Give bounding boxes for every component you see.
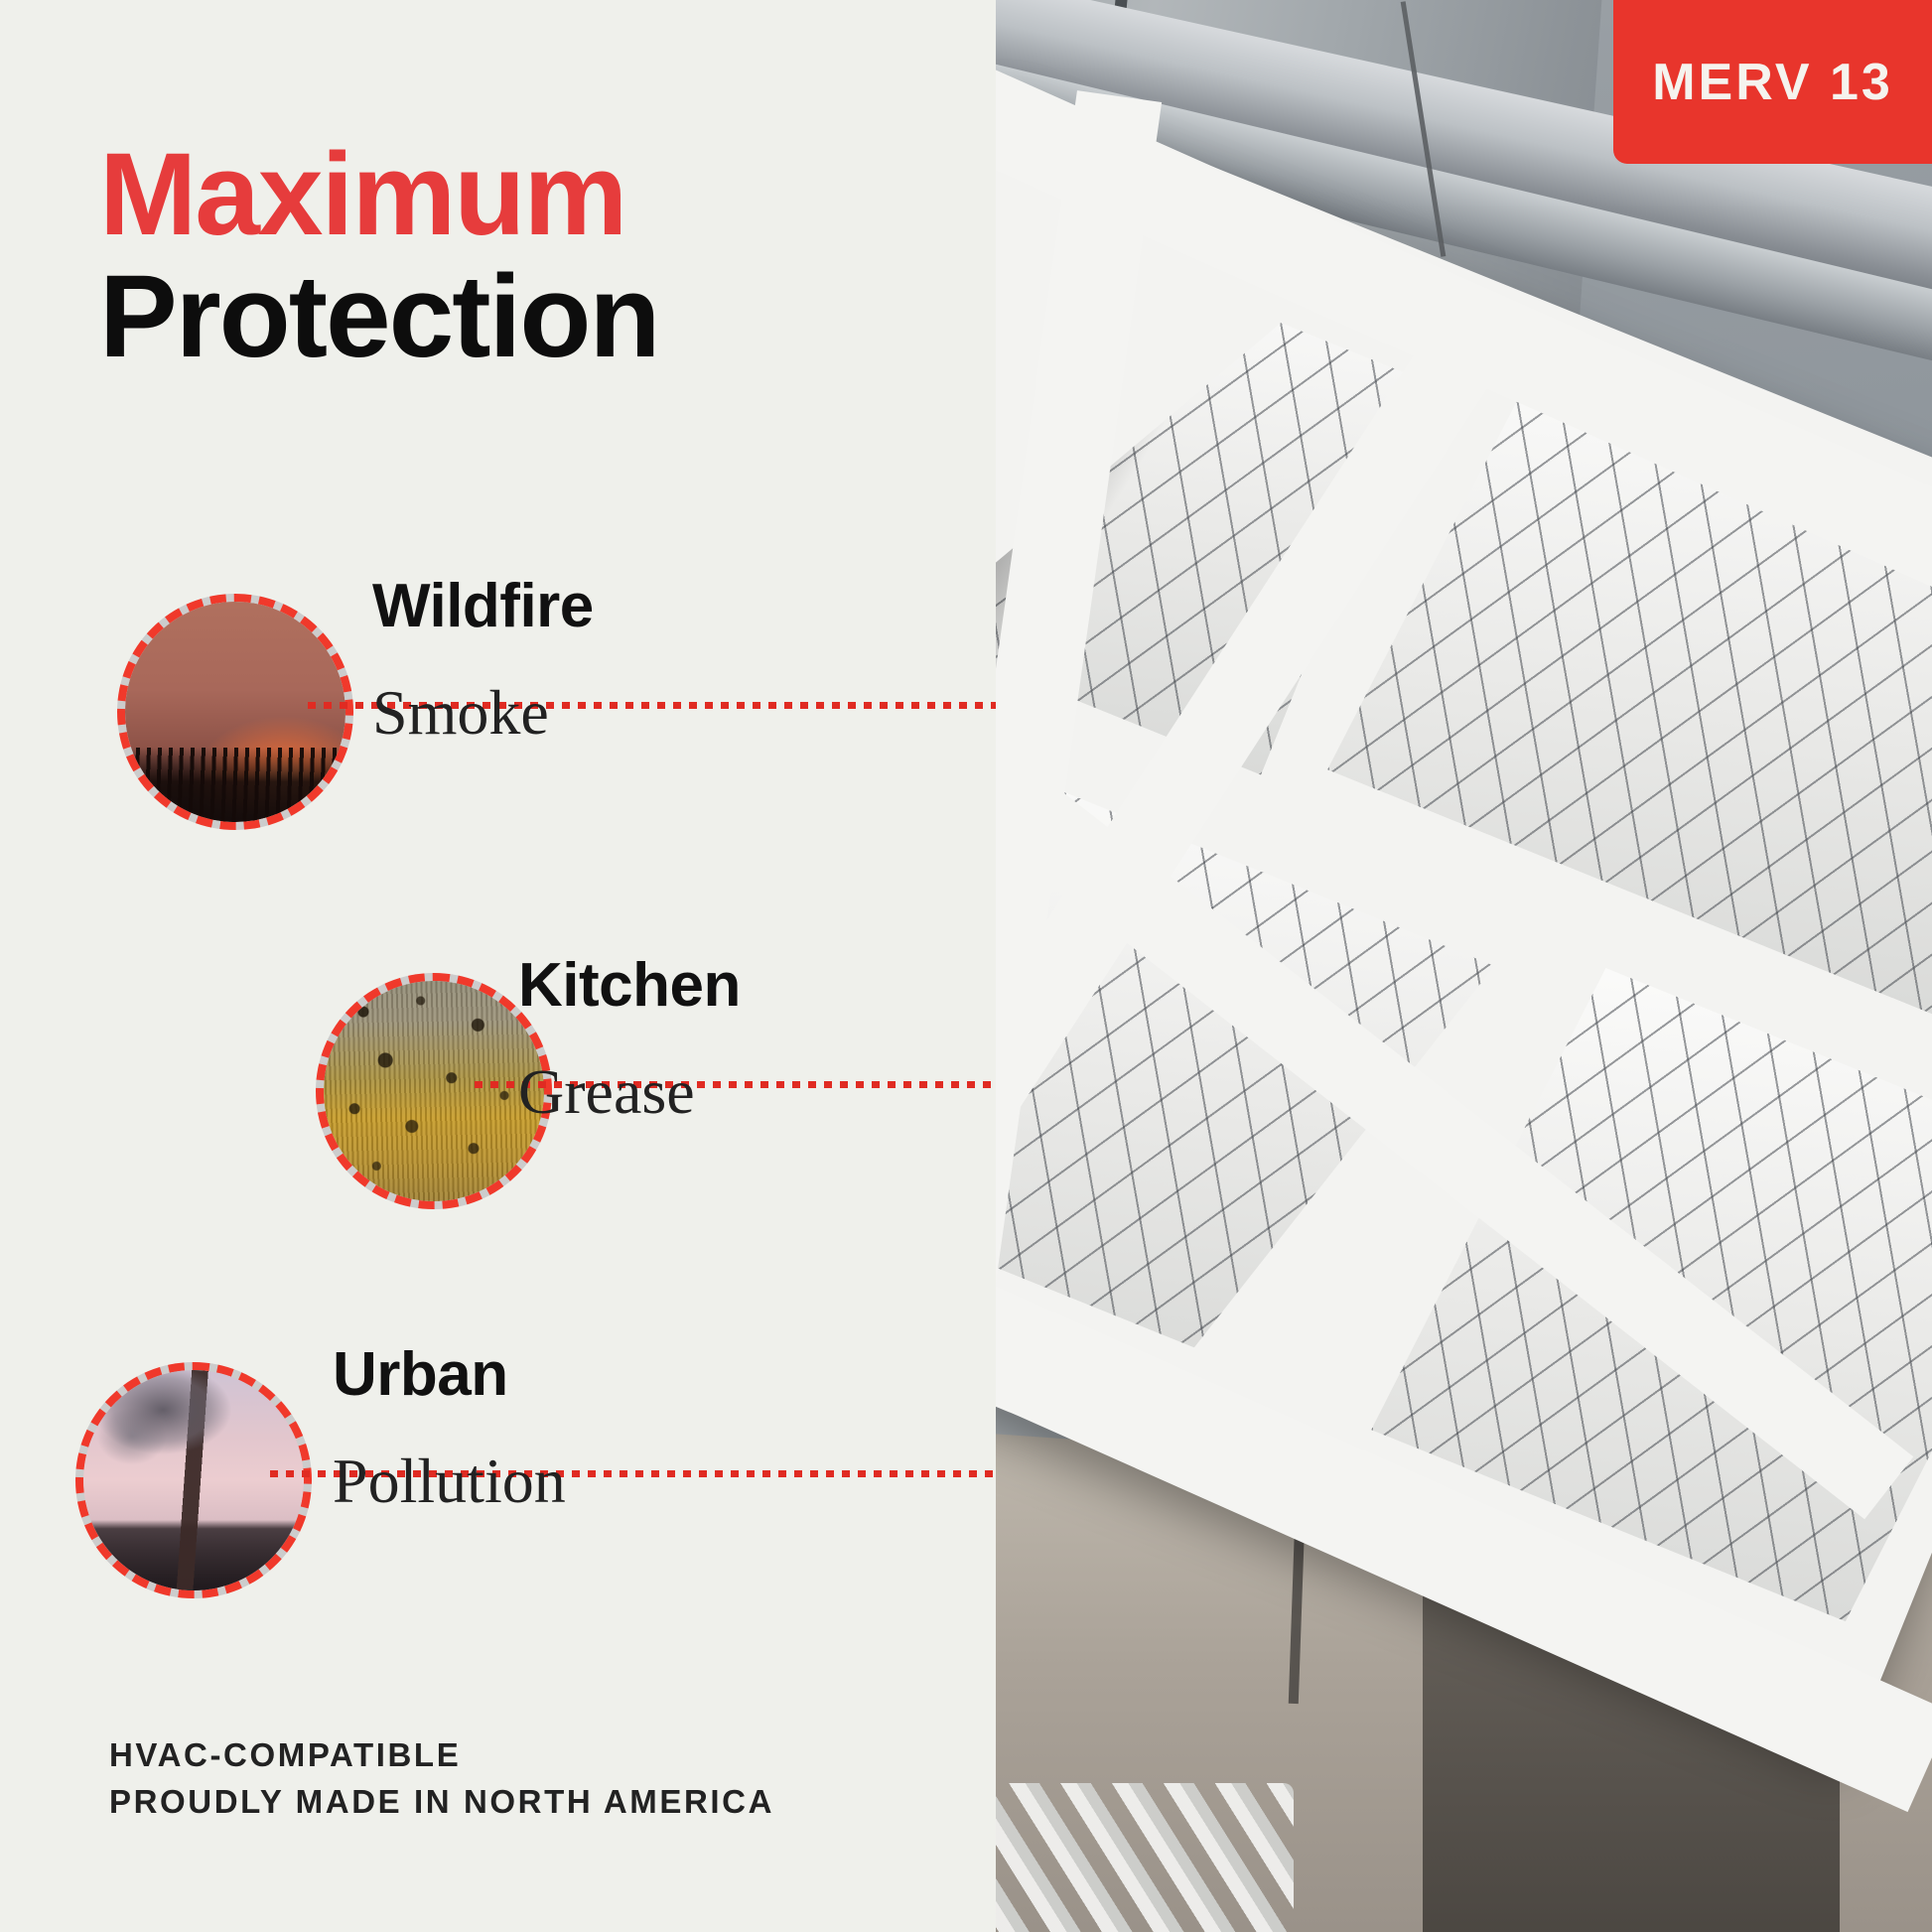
grease-photo-fill bbox=[324, 981, 544, 1201]
badge-label: MERV 13 bbox=[1652, 57, 1893, 108]
feature-title-kitchen: Kitchen bbox=[518, 955, 741, 1017]
left-content-panel: Maximum Protection Wildfire Smoke bbox=[0, 0, 996, 1932]
feature-title-urban: Urban bbox=[333, 1344, 566, 1406]
feature-subtitle-urban: Pollution bbox=[333, 1449, 566, 1513]
feature-subtitle-wildfire: Smoke bbox=[372, 681, 594, 745]
urban-pollution-thumbnail bbox=[75, 1362, 312, 1598]
product-poster: Maximum Protection Wildfire Smoke bbox=[0, 0, 1932, 1932]
urban-text-block: Urban Pollution bbox=[333, 1344, 566, 1513]
kitchen-grease-thumbnail bbox=[316, 973, 552, 1209]
wildfire-smoke-thumbnail bbox=[117, 594, 353, 830]
wildfire-text-block: Wildfire Smoke bbox=[372, 576, 594, 745]
feature-item-urban: Urban Pollution bbox=[0, 1330, 996, 1618]
wildfire-photo-fill bbox=[125, 602, 345, 822]
kitchen-text-block: Kitchen Grease bbox=[518, 955, 741, 1124]
footer-line-hvac-compatible: HVAC-COMPATIBLE bbox=[109, 1732, 923, 1779]
flex-duct-coil bbox=[996, 1783, 1294, 1932]
headline-line-2: Protection bbox=[99, 261, 953, 373]
feature-item-kitchen: Kitchen Grease bbox=[0, 943, 996, 1231]
feature-subtitle-kitchen: Grease bbox=[518, 1060, 741, 1124]
pollution-photo-fill bbox=[83, 1370, 304, 1590]
hvac-air-filter-in-duct-photo: MERV 13 bbox=[996, 0, 1932, 1932]
page-title: Maximum Protection bbox=[99, 139, 953, 374]
feature-item-wildfire: Wildfire Smoke bbox=[0, 556, 996, 844]
headline-line-1: Maximum bbox=[99, 139, 953, 251]
feature-list: Wildfire Smoke Kitchen Grease bbox=[0, 556, 996, 1718]
feature-title-wildfire: Wildfire bbox=[372, 576, 594, 637]
footer-text: HVAC-COMPATIBLE PROUDLY MADE IN NORTH AM… bbox=[109, 1732, 923, 1826]
footer-line-made-in-north-america: PROUDLY MADE IN NORTH AMERICA bbox=[109, 1779, 923, 1826]
status-badge: MERV 13 bbox=[1613, 0, 1932, 164]
